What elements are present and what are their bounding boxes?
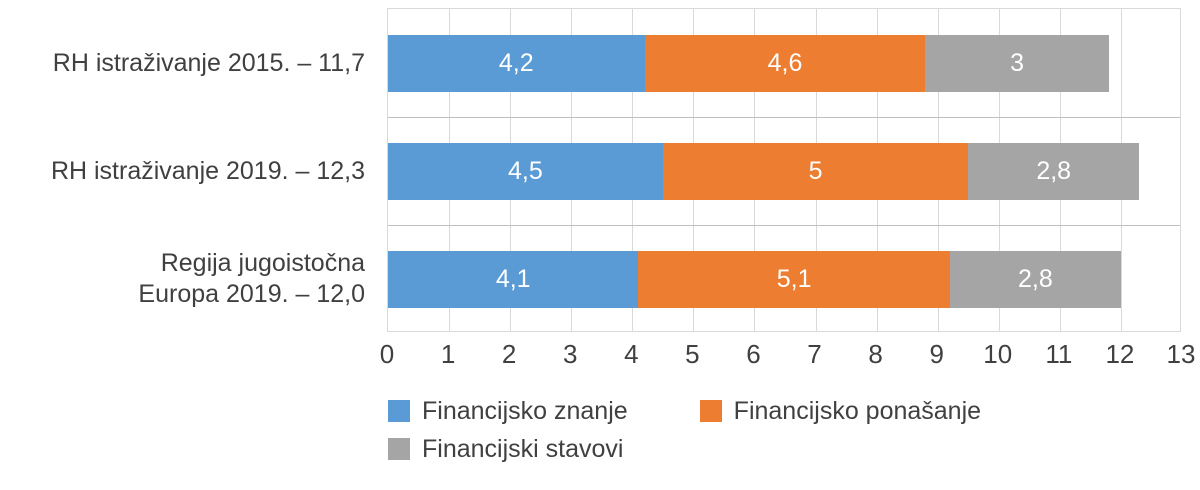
bar-segment-0-0[interactable]: 4,2 xyxy=(388,35,645,92)
x-tick-label-5: 5 xyxy=(685,338,699,370)
x-tick-label-3: 3 xyxy=(563,338,577,370)
bar-segment-2-1[interactable]: 5,1 xyxy=(638,251,949,308)
x-tick-label-6: 6 xyxy=(746,338,760,370)
plot-area: 4,24,634,552,84,15,12,8 xyxy=(387,8,1181,332)
x-tick-label-12: 12 xyxy=(1105,338,1134,370)
bar-segment-0-1[interactable]: 4,6 xyxy=(645,35,926,92)
legend-item-financijski-stavovi[interactable]: Financijski stavovi xyxy=(388,434,623,464)
legend-row-1: Financijsko znanje Financijsko ponašanje xyxy=(388,392,1148,430)
chart-legend: Financijsko znanje Financijsko ponašanje… xyxy=(388,392,1148,468)
bar-value-label: 3 xyxy=(1010,51,1024,76)
bar-row-1: 4,552,8 xyxy=(388,143,1139,200)
legend-swatch-icon-0 xyxy=(388,400,410,422)
x-tick-label-1: 1 xyxy=(441,338,455,370)
x-tick-label-13: 13 xyxy=(1167,338,1196,370)
x-tick-label-0: 0 xyxy=(380,338,394,370)
bar-segment-2-2[interactable]: 2,8 xyxy=(950,251,1121,308)
bar-value-label: 4,1 xyxy=(496,267,531,292)
bar-segment-1-1[interactable]: 5 xyxy=(663,143,968,200)
bar-row-0: 4,24,63 xyxy=(388,35,1109,92)
legend-row-2: Financijski stavovi xyxy=(388,430,1148,468)
legend-label-1: Financijsko ponašanje xyxy=(734,396,981,426)
bar-row-2: 4,15,12,8 xyxy=(388,251,1121,308)
x-tick-label-9: 9 xyxy=(929,338,943,370)
x-tick-label-10: 10 xyxy=(983,338,1012,370)
bar-segment-1-0[interactable]: 4,5 xyxy=(388,143,663,200)
legend-label-2: Financijski stavovi xyxy=(422,434,623,464)
category-label-1: RH istraživanje 2019. – 12,3 xyxy=(0,156,375,187)
x-tick-label-2: 2 xyxy=(502,338,516,370)
x-axis: 012345678910111213 xyxy=(387,334,1181,374)
legend-swatch-icon-1 xyxy=(700,400,722,422)
legend-item-financijsko-ponasanje[interactable]: Financijsko ponašanje xyxy=(700,396,981,426)
row-separator-2 xyxy=(388,225,1180,226)
row-separator-1 xyxy=(388,117,1180,118)
bar-segment-0-2[interactable]: 3 xyxy=(925,35,1108,92)
legend-swatch-icon-2 xyxy=(388,438,410,460)
bar-value-label: 2,8 xyxy=(1018,267,1053,292)
bar-value-label: 4,5 xyxy=(508,159,543,184)
category-axis-labels: RH istraživanje 2015. – 11,7 RH istraživ… xyxy=(0,0,375,337)
bar-segment-1-2[interactable]: 2,8 xyxy=(968,143,1139,200)
bar-value-label: 5 xyxy=(809,159,823,184)
bar-segment-2-0[interactable]: 4,1 xyxy=(388,251,638,308)
bar-value-label: 2,8 xyxy=(1036,159,1071,184)
bar-value-label: 5,1 xyxy=(777,267,812,292)
category-label-2: Regija jugoistočna Europa 2019. – 12,0 xyxy=(0,248,375,310)
x-tick-label-4: 4 xyxy=(624,338,638,370)
legend-label-0: Financijsko znanje xyxy=(422,396,628,426)
bar-value-label: 4,6 xyxy=(768,51,803,76)
stacked-bar-chart: RH istraživanje 2015. – 11,7 RH istraživ… xyxy=(0,0,1200,490)
category-label-0: RH istraživanje 2015. – 11,7 xyxy=(0,48,375,79)
bar-value-label: 4,2 xyxy=(499,51,534,76)
x-tick-label-7: 7 xyxy=(807,338,821,370)
x-tick-label-11: 11 xyxy=(1045,338,1072,370)
x-tick-label-8: 8 xyxy=(868,338,882,370)
legend-item-financijsko-znanje[interactable]: Financijsko znanje xyxy=(388,396,628,426)
